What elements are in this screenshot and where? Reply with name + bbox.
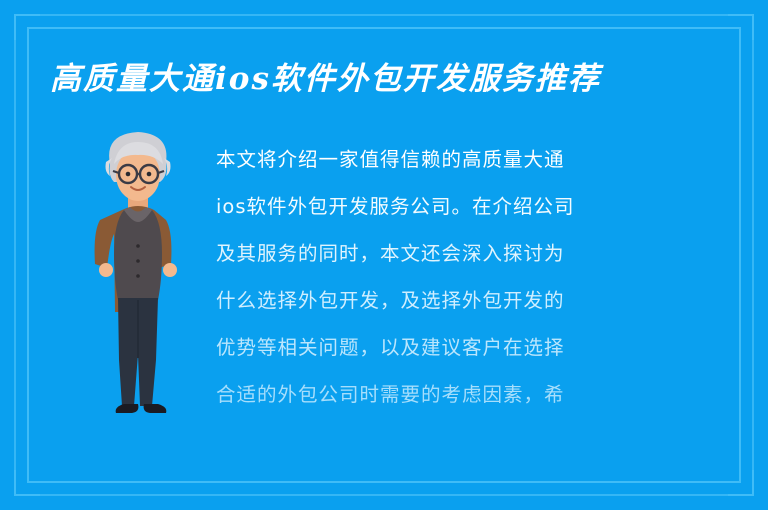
- poster-canvas: 高质量大通ios软件外包开发服务推荐: [0, 0, 768, 510]
- frame-corner-bottom-right: [728, 470, 754, 496]
- frame-corner-bottom-left: [14, 470, 40, 496]
- poster-body-text: 本文将介绍一家值得信赖的高质量大通 ios软件外包开发服务公司。在介绍公司 及其…: [216, 136, 730, 418]
- body-line-6: 合适的外包公司时需要的考虑因素，希: [216, 371, 730, 418]
- man-with-glasses-illustration: [78, 118, 198, 418]
- body-line-4: 什么选择外包开发，及选择外包开发的: [216, 277, 730, 324]
- body-line-2: ios软件外包开发服务公司。在介绍公司: [216, 183, 730, 230]
- frame-corner-top-right: [728, 14, 754, 40]
- body-line-5: 优势等相关问题，以及建议客户在选择: [216, 324, 730, 371]
- body-line-1: 本文将介绍一家值得信赖的高质量大通: [216, 136, 730, 183]
- poster-title: 高质量大通ios软件外包开发服务推荐: [50, 60, 718, 99]
- frame-corner-top-left: [14, 14, 40, 40]
- body-line-3: 及其服务的同时，本文还会深入探讨为: [216, 230, 730, 277]
